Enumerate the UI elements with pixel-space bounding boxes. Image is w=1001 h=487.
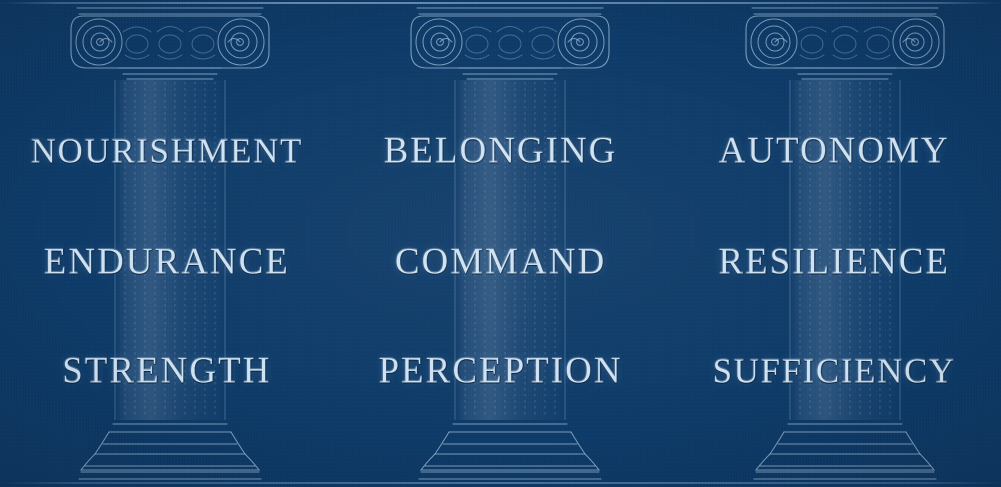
- pillar-word-perception: PERCEPTION: [378, 353, 622, 390]
- pillar-word-belonging: BELONGING: [384, 133, 618, 170]
- pillar-word-command: COMMAND: [395, 244, 606, 281]
- pillar-word-autonomy: AUTONOMY: [719, 133, 950, 170]
- ground-line: [0, 482, 1001, 484]
- pillar-word-nourishment: NOURISHMENT: [31, 134, 303, 169]
- pillar-word-sufficiency: SUFFICIENCY: [713, 354, 956, 389]
- pillar-word-endurance: ENDURANCE: [44, 244, 290, 281]
- pillar-word-strength: STRENGTH: [62, 353, 271, 390]
- pillars-canvas: NOURISHMENTBELONGINGAUTONOMYENDURANCECOM…: [0, 0, 1001, 487]
- pillar-word-resilience: RESILIENCE: [718, 244, 950, 281]
